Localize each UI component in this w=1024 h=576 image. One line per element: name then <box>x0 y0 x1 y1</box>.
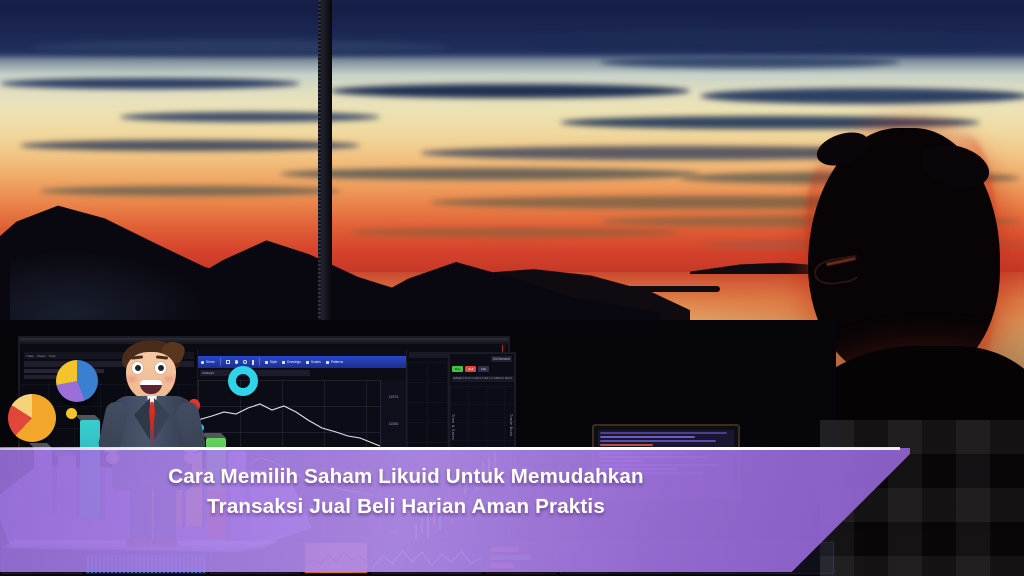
window-mullion-edge <box>318 0 321 330</box>
sell-button[interactable]: Sell <box>465 366 476 372</box>
character-pupil-right <box>158 365 164 371</box>
quote-row: AMZQ23 1 B 1m O 1615.2 H 1617.4 L 1609.8… <box>452 376 516 382</box>
flat-button[interactable]: Flat <box>478 366 489 372</box>
cloud-band <box>20 140 360 151</box>
cloud-band <box>120 112 380 122</box>
left-tab-label[interactable]: Charts <box>37 354 46 358</box>
banner-title: Cara Memilih Saham Likuid Untuk Memudahk… <box>0 462 812 522</box>
ring-icon <box>228 366 258 396</box>
left-tab-label[interactable]: Tools <box>49 354 56 358</box>
pie-chart-orange <box>8 394 56 442</box>
cloud-band <box>30 40 450 54</box>
buy-button[interactable]: Buy <box>452 366 463 372</box>
cloud-band <box>280 168 700 180</box>
cloud-band <box>40 186 340 196</box>
side-label-trade-book: Trade Book <box>509 414 513 436</box>
character-teeth <box>140 380 162 385</box>
dot-icon-yellow <box>66 408 77 419</box>
banner-top-edge <box>0 447 900 450</box>
cloud-band <box>520 30 1000 50</box>
side-label-time-sales: Time & Sales <box>451 414 455 440</box>
cloud-band <box>0 78 300 89</box>
ondemand-badge[interactable]: OnDemand <box>491 356 512 362</box>
banner-title-line-1: Cara Memilih Saham Likuid Untuk Memudahk… <box>0 462 812 492</box>
cloud-band <box>600 56 900 68</box>
pie-chart-blue <box>56 360 98 402</box>
character-blush-right <box>164 376 174 382</box>
banner-title-line-2: Transaksi Jual Beli Harian Aman Praktis <box>0 492 812 522</box>
cloud-band <box>330 84 690 98</box>
character-blush-left <box>127 376 137 382</box>
character-pupil-left <box>135 365 141 371</box>
cloud-band <box>700 88 1024 104</box>
left-tab-label[interactable]: Trade <box>26 354 34 358</box>
screenshot-root: News Scan Messages Support Chat Rooms Se… <box>0 0 1024 576</box>
